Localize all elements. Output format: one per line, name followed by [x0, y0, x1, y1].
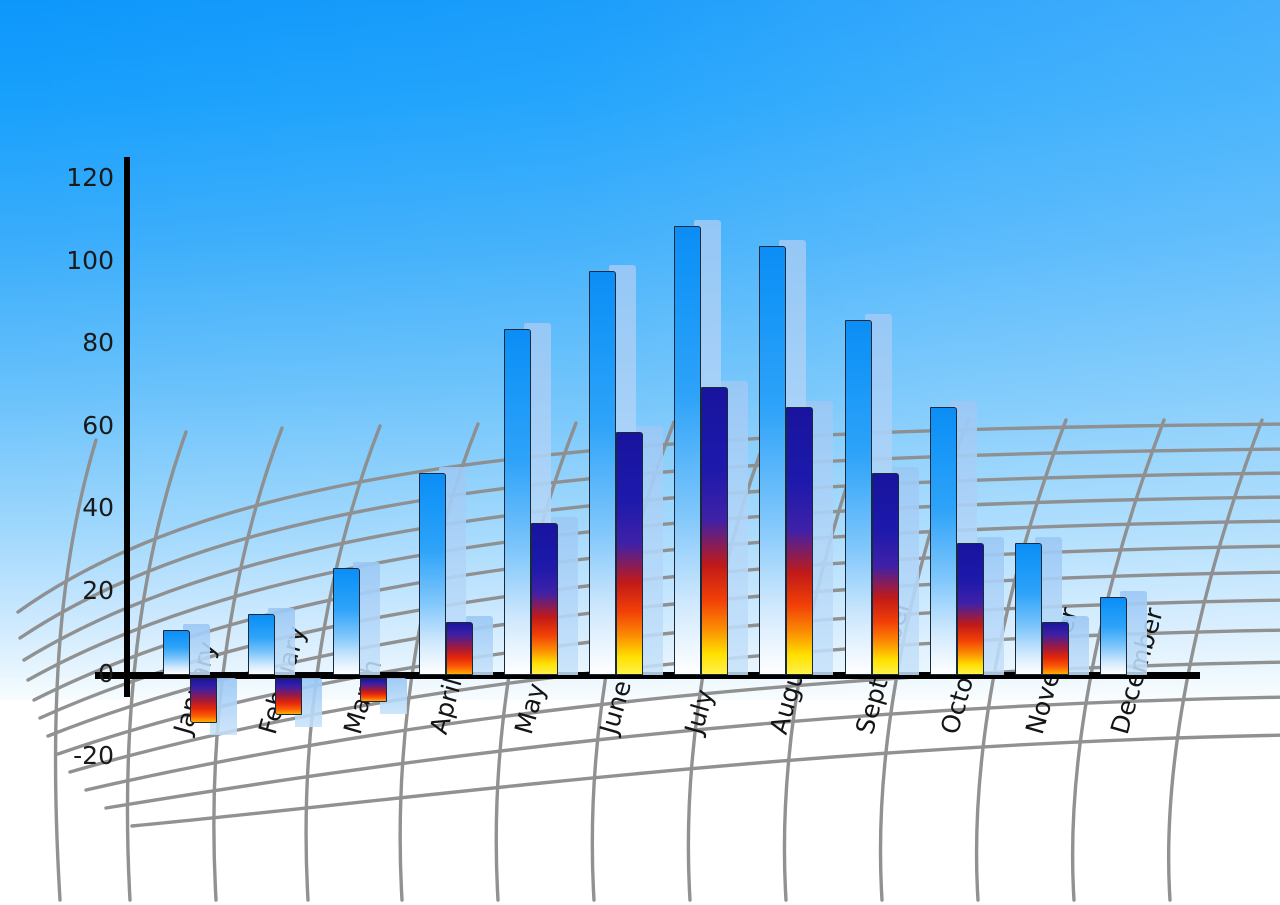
- bar-march-series1: [333, 568, 360, 675]
- y-axis-line: [124, 157, 130, 697]
- bar-march-series2: [360, 678, 387, 703]
- bar-february-series2: [275, 678, 302, 715]
- y-axis-tick-labels: -20020406080100120: [0, 0, 114, 905]
- bar-december-series1: [1100, 597, 1127, 675]
- y-tick-neg20: -20: [73, 743, 114, 768]
- y-tick-40: 40: [82, 495, 114, 520]
- y-tick-0: 0: [98, 661, 114, 686]
- bar-september-series1: [845, 320, 872, 675]
- x-axis-label-july: July: [681, 687, 717, 737]
- bar-april-series2: [446, 622, 473, 676]
- bar-january-series1: [163, 630, 190, 675]
- bar-january-series2: [190, 678, 217, 723]
- bar-june-series2: [616, 432, 643, 676]
- bar-may-series1: [504, 329, 531, 676]
- bar-august-series2: [786, 407, 813, 675]
- y-tick-20: 20: [82, 578, 114, 603]
- bar-october-series1: [930, 407, 957, 675]
- bar-april-series1: [419, 473, 446, 675]
- bar-july-series2: [701, 387, 728, 676]
- bar-november-series1: [1015, 543, 1042, 675]
- y-tick-100: 100: [66, 248, 114, 273]
- bar-june-series1: [589, 271, 616, 676]
- y-tick-80: 80: [82, 330, 114, 355]
- bar-october-series2: [957, 543, 984, 675]
- bar-november-series2: [1042, 622, 1069, 676]
- bar-september-series2: [872, 473, 899, 675]
- y-tick-120: 120: [66, 165, 114, 190]
- y-tick-60: 60: [82, 413, 114, 438]
- bar-july-series1: [674, 226, 701, 676]
- bar-may-series2: [531, 523, 558, 676]
- x-axis-label-april: April: [426, 675, 466, 737]
- x-axis-label-may: May: [511, 680, 549, 737]
- bars-layer: JanuaryFebruaryMarchAprilMayJuneJulyAugu…: [0, 0, 1280, 905]
- x-axis-label-june: June: [596, 678, 635, 737]
- chart-canvas: JanuaryFebruaryMarchAprilMayJuneJulyAugu…: [0, 0, 1280, 905]
- bar-february-series1: [248, 614, 275, 676]
- bar-august-series1: [759, 246, 786, 675]
